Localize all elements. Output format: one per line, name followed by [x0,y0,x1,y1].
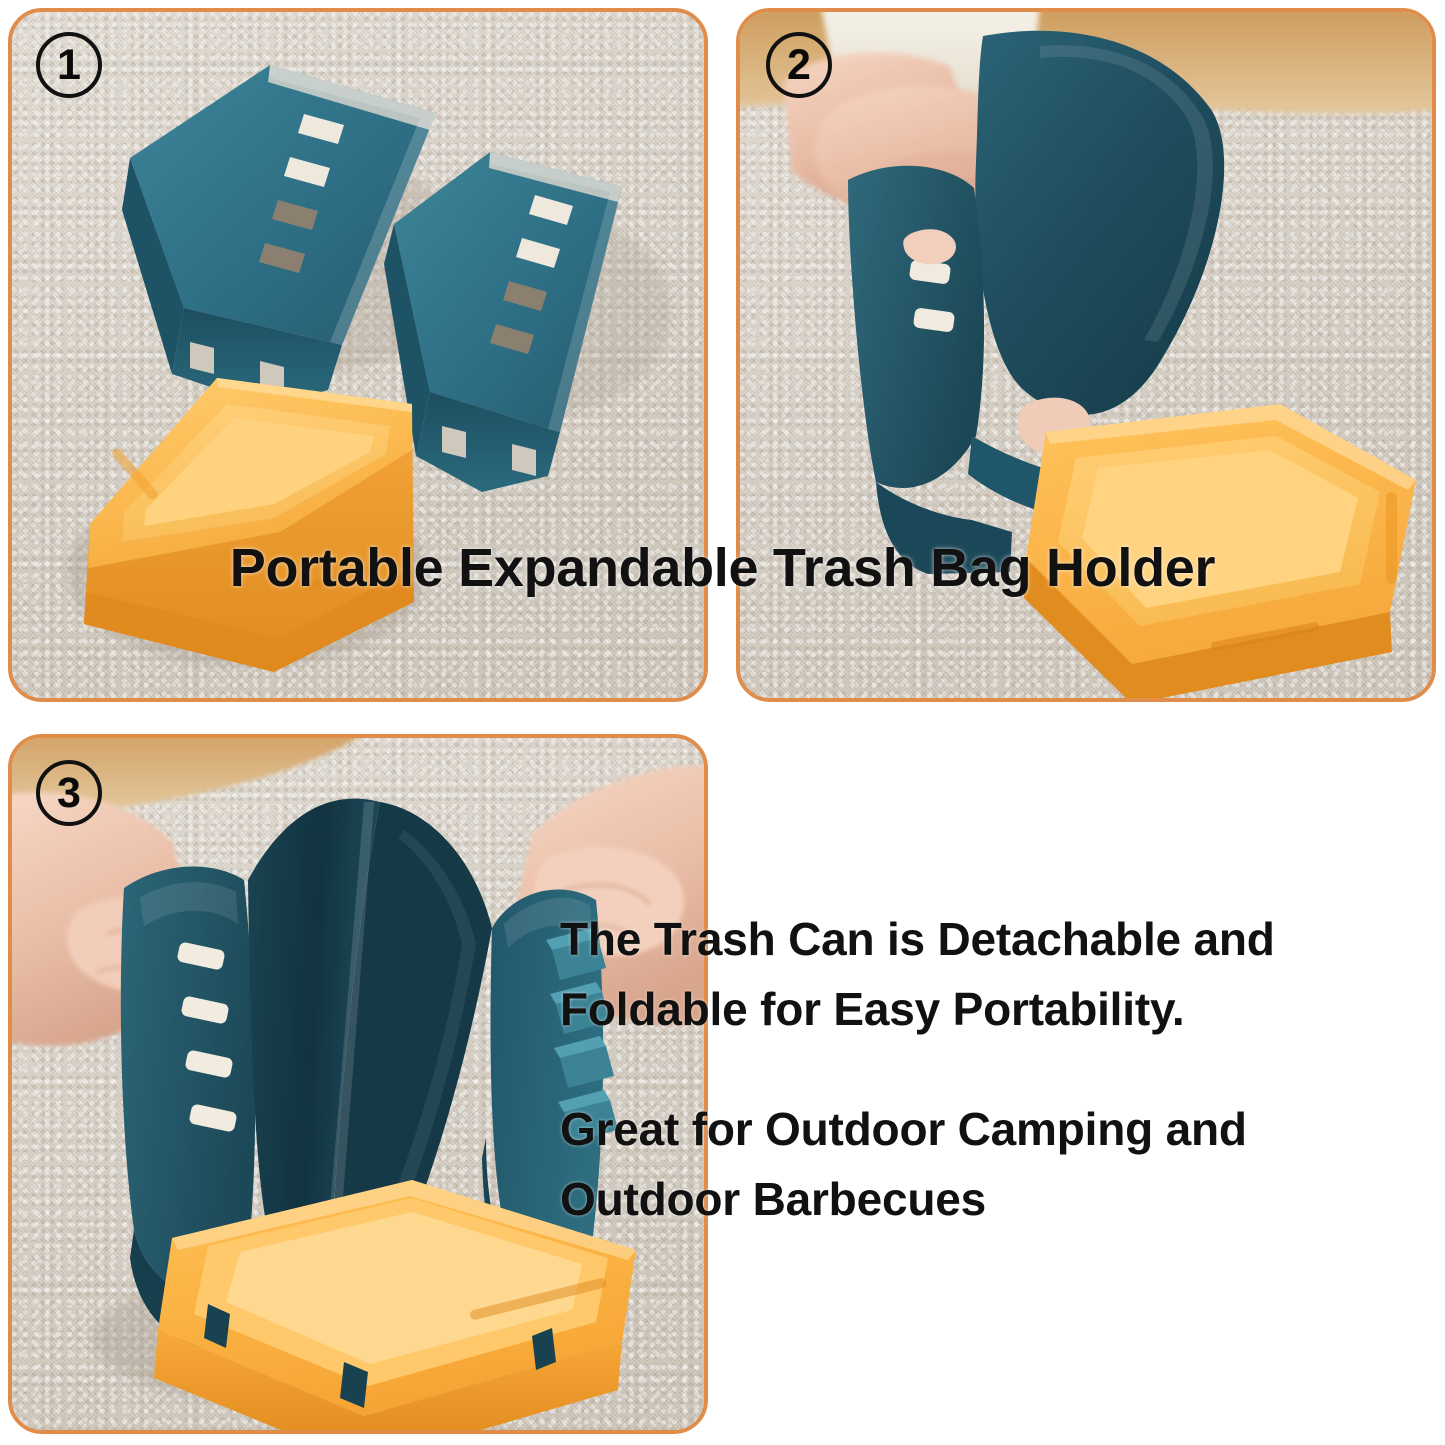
copy-spacer [560,1045,1440,1095]
step-badge-1: 1 [36,32,102,98]
feature-line-2: Foldable for Easy Portability. [560,975,1440,1045]
step-badge-3: 3 [36,760,102,826]
feature-line-1: The Trash Can is Detachable and [560,905,1440,975]
page-title: Portable Expandable Trash Bag Holder [0,537,1445,599]
infographic-canvas: 1 2 3 Portable Expandable Trash Bag Hold… [0,0,1445,1445]
feature-line-3: Great for Outdoor Camping and [560,1095,1440,1165]
feature-copy-block: The Trash Can is Detachable and Foldable… [560,905,1440,1235]
feature-line-4: Outdoor Barbecues [560,1165,1440,1235]
step-badge-2: 2 [766,32,832,98]
